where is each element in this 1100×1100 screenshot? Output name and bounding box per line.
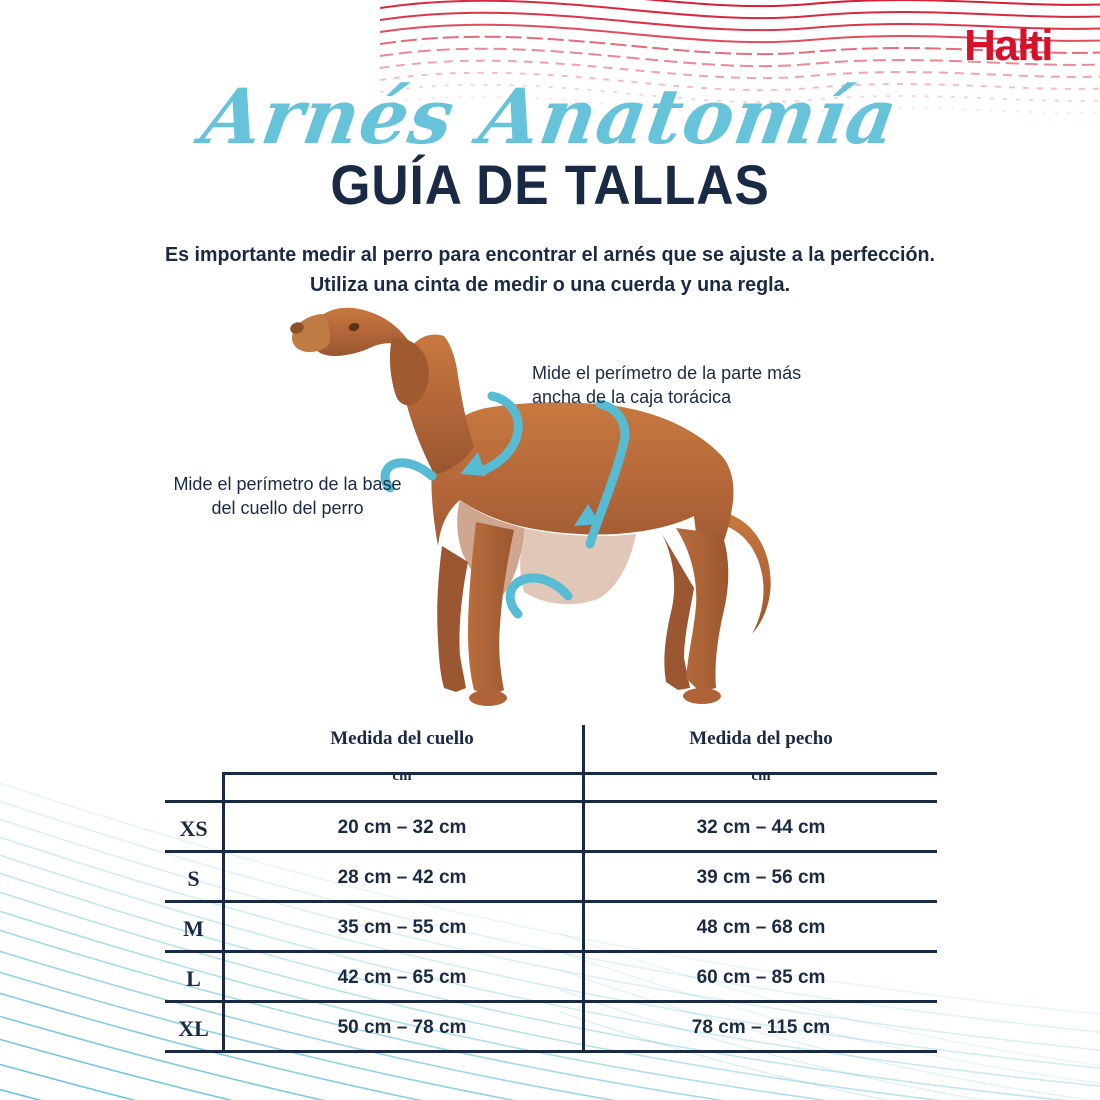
table-cell-chest-s: 39 cm – 56 cm <box>585 867 937 889</box>
dog-near-front-leg <box>468 522 514 696</box>
size-guide-infographic: Halti Arnés Anatomía GUÍA DE TALLAS Es i… <box>0 0 1100 1100</box>
halti-logo-text: Halti <box>964 21 1052 70</box>
table-row-size-l: L <box>165 966 222 992</box>
dog-far-front-leg <box>437 546 468 692</box>
callout-neck-measure: Mide el perímetro de la base del cuello … <box>170 473 405 521</box>
table-cell-neck-s: 28 cm – 42 cm <box>222 867 582 889</box>
table-divider-size <box>222 772 225 1050</box>
table-rule-unit <box>165 800 937 803</box>
dog-hind-paw <box>683 688 721 704</box>
table-rule-row-1 <box>165 850 937 853</box>
table-rule-row-4 <box>165 1000 937 1003</box>
table-cell-neck-xl: 50 cm – 78 cm <box>222 1017 582 1039</box>
halti-logo-t-crossbar <box>1020 44 1033 50</box>
table-cell-chest-m: 48 cm – 68 cm <box>585 917 937 939</box>
table-cell-chest-xl: 78 cm – 115 cm <box>585 1017 937 1039</box>
halti-logo: Halti <box>964 24 1052 68</box>
page-title: GUÍA DE TALLAS <box>44 152 1056 217</box>
column-header-chest: Medida del pecho <box>585 728 937 750</box>
table-row-size-s: S <box>165 866 222 892</box>
dog-belly-shading <box>520 528 636 604</box>
subtitle: Es importante medir al perro para encont… <box>80 240 1021 299</box>
table-rule-row-2 <box>165 900 937 903</box>
table-row-size-xs: XS <box>165 816 222 842</box>
column-header-neck: Medida del cuello <box>222 728 582 750</box>
dog-front-paw <box>469 690 507 706</box>
callout-chest-measure: Mide el perímetro de la parte más ancha … <box>532 362 832 410</box>
table-cell-chest-xs: 32 cm – 44 cm <box>585 817 937 839</box>
subtitle-line-2: Utiliza una cinta de medir o una cuerda … <box>80 270 1021 300</box>
unit-header-neck: cm <box>222 768 582 785</box>
table-cell-neck-m: 35 cm – 55 cm <box>222 917 582 939</box>
size-table: Medida del cuello Medida del pecho cm cm… <box>165 722 937 1054</box>
script-title: Arnés Anatomía <box>0 72 1100 161</box>
subtitle-line-1: Es importante medir al perro para encont… <box>165 243 935 266</box>
unit-header-chest: cm <box>585 768 937 785</box>
table-cell-neck-l: 42 cm – 65 cm <box>222 967 582 989</box>
table-row-size-m: M <box>165 916 222 942</box>
table-row-size-xl: XL <box>165 1016 222 1042</box>
table-cell-neck-xs: 20 cm – 32 cm <box>222 817 582 839</box>
table-rule-row-3 <box>165 950 937 953</box>
table-rule-bottom <box>165 1050 937 1053</box>
table-cell-chest-l: 60 cm – 85 cm <box>585 967 937 989</box>
